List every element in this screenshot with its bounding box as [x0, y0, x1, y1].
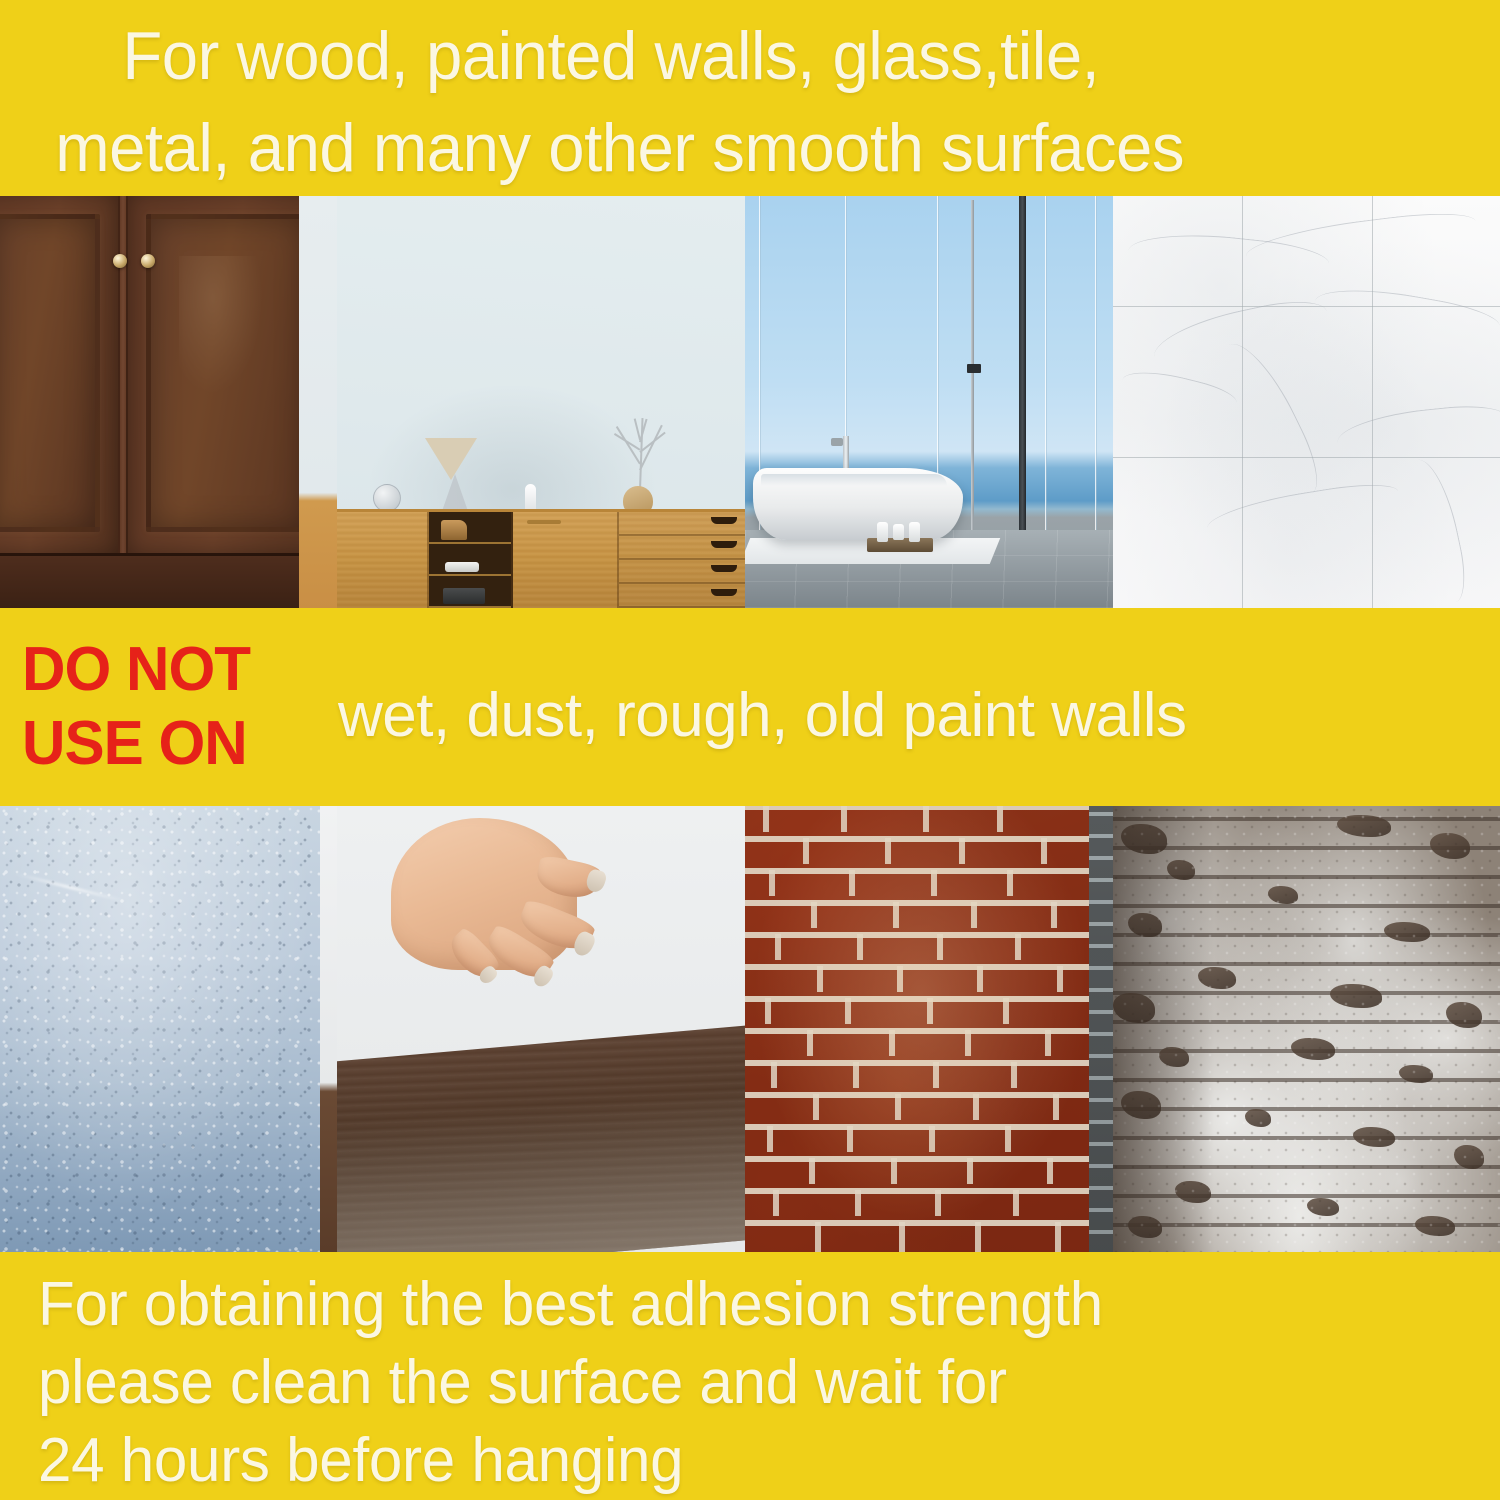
- cabinet-door-left: [0, 196, 120, 556]
- sideboard-cabinet: [513, 512, 619, 608]
- do-not-use-line-1: DO NOT: [22, 633, 323, 707]
- bottom-banner-line-2: please clean the surface and wait for: [38, 1344, 1427, 1422]
- wet-surface-image: [0, 806, 337, 1252]
- drawer: [619, 560, 745, 584]
- bath-bottle: [893, 524, 904, 540]
- panel-wood-cabinet: [0, 196, 337, 608]
- wet-sheen: [0, 806, 337, 1252]
- dry-branches: [609, 412, 671, 490]
- suitable-surfaces-row: [0, 196, 1500, 608]
- do-not-use-line-2: USE ON: [22, 707, 323, 781]
- shelf: [429, 512, 511, 544]
- avoid-surfaces-row: [0, 806, 1500, 1252]
- adjacent-stone-edge: [1089, 806, 1113, 1252]
- panel-dusty-surface: [337, 806, 745, 1252]
- panel-old-paint-wall: [1113, 806, 1500, 1252]
- sideboard-open-shelves: [429, 512, 513, 608]
- wood-sheen: [179, 256, 264, 395]
- wood-cabinet-image: [0, 196, 337, 608]
- product-infographic: For wood, painted walls, glass,tile, met…: [0, 0, 1500, 1500]
- panel-rough-brick: [745, 806, 1113, 1252]
- shelf: [429, 544, 511, 576]
- sideboard-door: [337, 512, 429, 608]
- glass-bathroom-image: [745, 196, 1113, 608]
- top-banner-line-1: For wood, painted walls, glass,tile,: [36, 10, 1407, 102]
- warning-banner: DO NOT USE ON wet, dust, rough, old pain…: [0, 608, 1500, 806]
- top-banner: For wood, painted walls, glass,tile, met…: [0, 0, 1500, 196]
- shadow-left: [1113, 806, 1214, 1252]
- decor-figurine: [525, 484, 536, 512]
- do-not-use-label: DO NOT USE ON: [22, 633, 323, 781]
- cabinet-panel-inset: [0, 214, 100, 532]
- shelf-object: [441, 520, 467, 540]
- brick-highlight: [745, 806, 1113, 1252]
- warning-description: wet, dust, rough, old paint walls: [332, 663, 1490, 751]
- marble-tile-image: [1113, 196, 1500, 608]
- freestanding-bathtub: [753, 468, 963, 540]
- hand-icon: [369, 814, 619, 1064]
- cabinet-base-trim: [0, 553, 337, 608]
- cabinet-knob-icon: [113, 254, 127, 268]
- cabinet-knob-icon: [141, 254, 155, 268]
- shelf-object: [445, 562, 479, 572]
- red-brick-image: [745, 806, 1113, 1252]
- wooden-sideboard: [337, 509, 745, 608]
- sideboard-drawers: [619, 512, 745, 608]
- adjacent-wall-edge: [320, 806, 337, 1252]
- drawer: [619, 536, 745, 560]
- bottom-banner-line-1: For obtaining the best adhesion strength: [38, 1266, 1427, 1344]
- bath-bottle: [909, 522, 920, 542]
- shelf: [429, 576, 511, 608]
- bottom-banner-line-3: 24 hours before hanging: [38, 1422, 1427, 1500]
- bottom-banner: For obtaining the best adhesion strength…: [0, 1252, 1500, 1500]
- drawer: [619, 512, 745, 536]
- door-handle-icon: [967, 364, 981, 373]
- panel-painted-wall: [337, 196, 745, 608]
- bath-bottle: [877, 522, 888, 542]
- tile-grout-lines: [1113, 196, 1500, 608]
- shelf-object: [443, 588, 485, 604]
- decor-sphere: [373, 484, 401, 512]
- lamp-base: [441, 474, 469, 514]
- adjacent-wall-edge: [299, 196, 337, 608]
- cabinet-panel-inset: [146, 214, 310, 532]
- drawer: [619, 584, 745, 608]
- old-paint-brick-image: [1113, 806, 1500, 1252]
- panel-glass-shower: [745, 196, 1113, 608]
- panel-wet-surface: [0, 806, 337, 1252]
- painted-wall-image: [337, 196, 745, 608]
- panel-marble-tile: [1113, 196, 1500, 608]
- dusty-surface-image: [337, 806, 745, 1252]
- top-banner-line-2: metal, and many other smooth surfaces: [36, 102, 1407, 194]
